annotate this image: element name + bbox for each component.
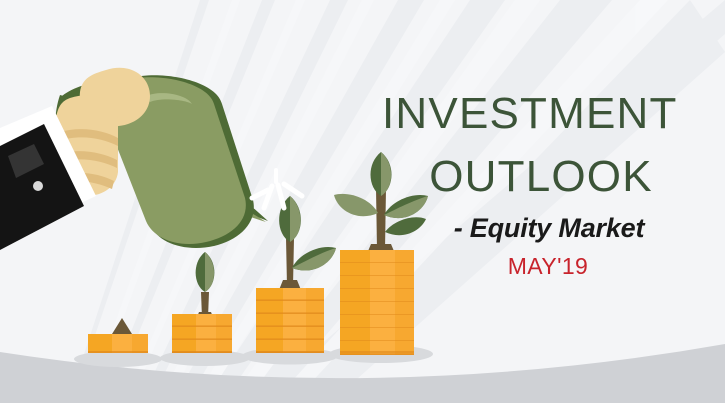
water-spray-droplets [252,170,302,208]
date-label: MAY'19 [388,253,708,280]
headline-line-2: OUTLOOK [378,155,704,199]
headline-line-1: INVESTMENT [382,92,708,136]
poster-text-block: INVESTMENT OUTLOOK - Equity Market MAY'1… [378,92,708,280]
subtitle: - Equity Market [390,213,708,244]
investment-outlook-poster: INVESTMENT OUTLOOK - Equity Market MAY'1… [0,0,725,403]
